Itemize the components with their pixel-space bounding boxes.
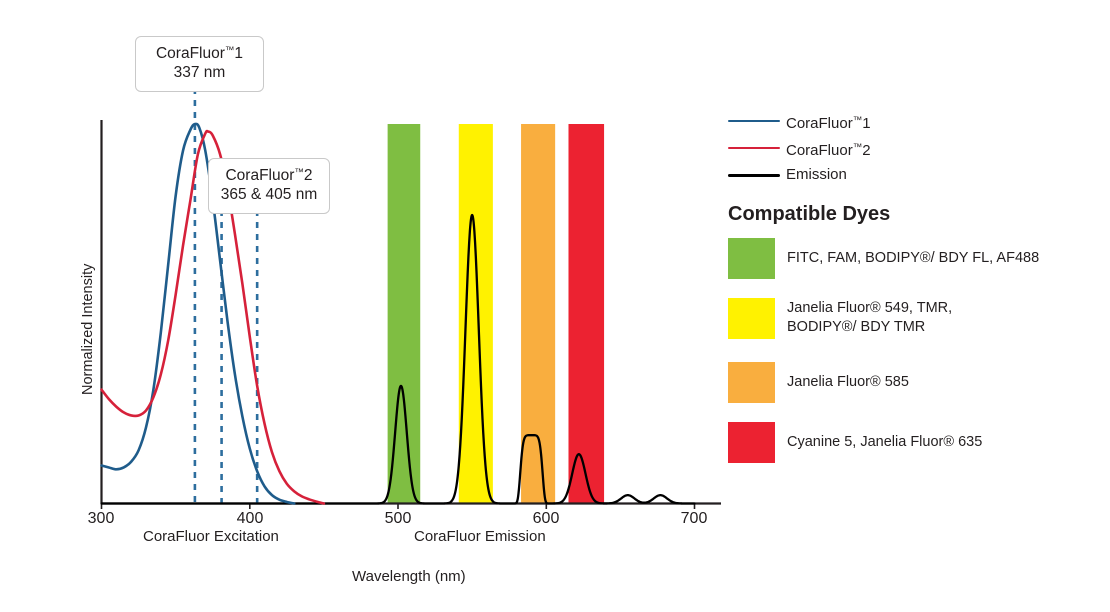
dye-band-yellow [459,124,493,503]
corafluor2-callout: CoraFluor™2 365 & 405 nm [208,158,330,214]
x-tick-label: 500 [368,510,428,528]
x-tick-label: 300 [71,510,131,528]
legend-line-corafluor1 [728,120,780,122]
x-axis-title: Wavelength (nm) [352,568,466,585]
dye-legend-row-green: FITC, FAM, BODIPY®/ BDY FL, AF488 [728,238,1106,279]
dye-legend-row-orange: Janelia Fluor® 585 [728,362,1106,403]
callout-line1: CoraFluor™2 [225,167,312,184]
emission-caption: CoraFluor Emission [414,528,546,545]
dye-label-green: FITC, FAM, BODIPY®/ BDY FL, AF488 [787,249,1039,268]
trademark-symbol: ™ [225,45,235,56]
dye-label-yellow-line2: BODIPY®/ BDY TMR [787,318,925,337]
legend-row-corafluor2: CoraFluor™2 [728,135,1106,162]
corafluor1-callout: CoraFluor™1 337 nm [135,36,264,92]
excitation-caption: CoraFluor Excitation [143,528,279,545]
x-tick-label: 400 [220,510,280,528]
legend-row-emission: Emission [728,162,1106,189]
legend: CoraFluor™1 CoraFluor™2 Emission Compati… [728,108,1106,189]
dye-band-green [388,124,421,503]
spectra-figure: CoraFluor™1 337 nm CoraFluor™2 365 & 405… [0,0,1110,612]
trademark-symbol: ™ [853,142,863,153]
legend-label-corafluor1: CoraFluor™1 [786,108,871,136]
callout-line2: 365 & 405 nm [219,185,319,204]
trademark-symbol: ™ [853,115,863,126]
dye-legend-row-red: Cyanine 5, Janelia Fluor® 635 [728,422,1106,463]
dye-band-red [568,124,604,503]
dye-band-orange [521,124,555,503]
callout-line1: CoraFluor™1 [156,45,243,62]
y-axis-title: Normalized Intensity [80,264,96,395]
legend-row-corafluor1: CoraFluor™1 [728,108,1106,135]
callout-line2: 337 nm [146,63,253,82]
x-tick-label: 600 [516,510,576,528]
dye-legend-row-yellow: Janelia Fluor® 549, TMR, BODIPY®/ BDY TM… [728,298,1106,339]
legend-line-corafluor2 [728,147,780,149]
trademark-symbol: ™ [294,167,304,178]
dye-swatch-red [728,422,775,463]
dye-bands [388,124,604,503]
x-tick-label: 700 [664,510,724,528]
compatible-dyes-title: Compatible Dyes [728,203,890,226]
dye-swatch-yellow [728,298,775,339]
legend-label-emission: Emission [786,162,847,187]
dye-label-yellow-line1: Janelia Fluor® 549, TMR, [787,299,952,318]
dye-label-orange: Janelia Fluor® 585 [787,373,909,392]
legend-line-emission [728,174,780,177]
legend-label-corafluor2: CoraFluor™2 [786,135,871,163]
dye-swatch-orange [728,362,775,403]
dye-swatch-green [728,238,775,279]
dye-label-red: Cyanine 5, Janelia Fluor® 635 [787,433,982,452]
